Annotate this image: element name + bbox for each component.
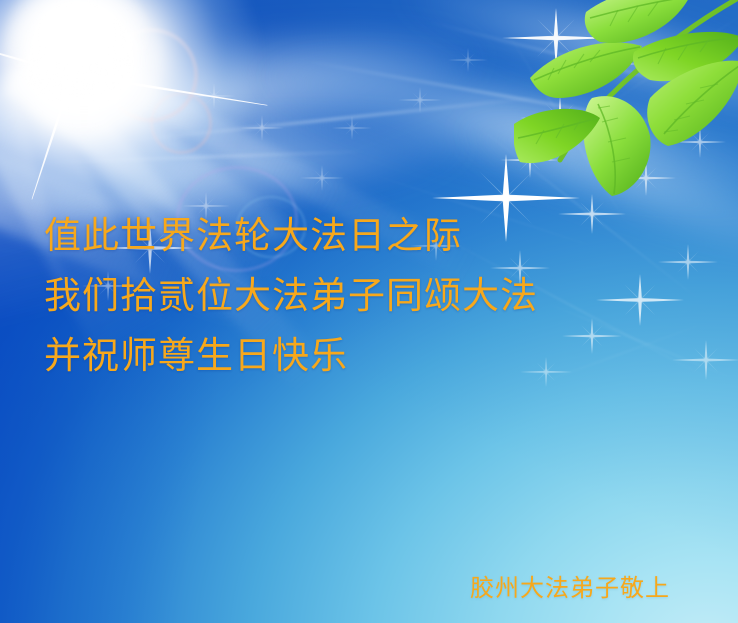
sparkle-star-icon — [596, 256, 684, 344]
greeting-line-1: 值此世界法轮大法日之际 — [44, 206, 604, 266]
leaf — [530, 43, 642, 98]
leaf-branch-icon — [514, 0, 738, 200]
sparkle-star-icon — [448, 40, 488, 80]
sparkle-star-icon — [658, 232, 718, 292]
leaf — [583, 96, 650, 196]
greeting-line-3: 并祝师尊生日快乐 — [44, 326, 604, 386]
greeting-text-block: 值此世界法轮大法日之际 我们拾贰位大法弟子同颂大法 并祝师尊生日快乐 — [44, 206, 604, 386]
greeting-card-image: 值此世界法轮大法日之际 我们拾贰位大法弟子同颂大法 并祝师尊生日快乐 胶州大法弟… — [0, 0, 738, 623]
sparkle-star-icon — [672, 326, 738, 394]
signature-text: 胶州大法弟子敬上 — [470, 572, 670, 604]
greeting-line-2: 我们拾贰位大法弟子同颂大法 — [44, 266, 604, 326]
